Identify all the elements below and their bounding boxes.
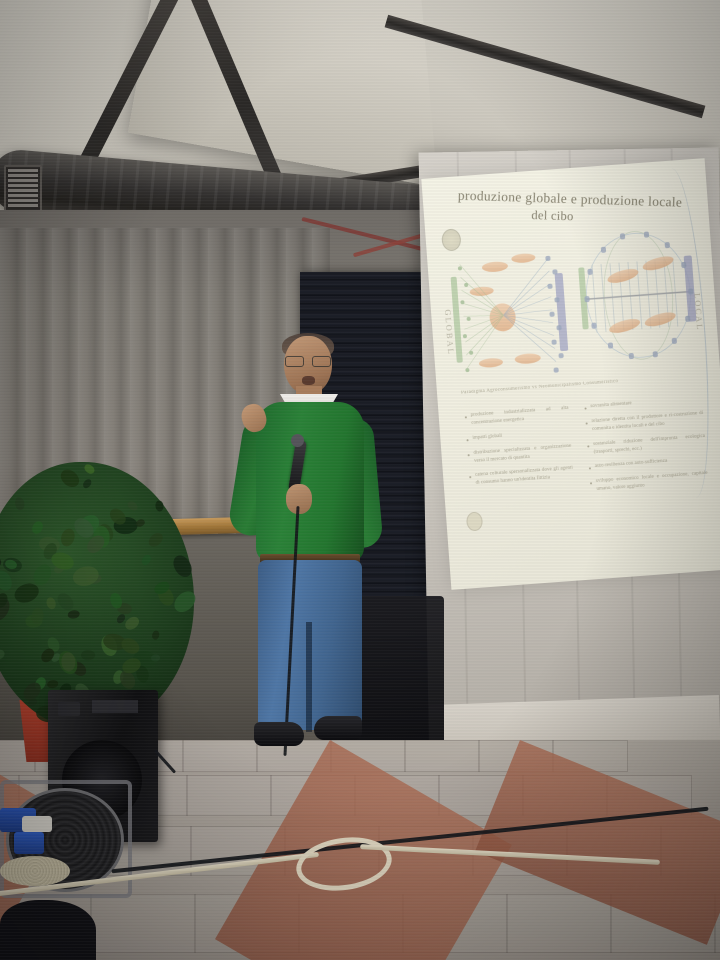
slide-bullet-text: distribuzione specializzata e organizzaz… <box>473 442 572 465</box>
slide-bullet-text: relazione diretta con il produttore e ri… <box>591 410 704 434</box>
slide-bullet: produzione industrializzata ad alta conc… <box>465 405 570 428</box>
bullet-dot-icon <box>589 468 591 470</box>
coiled-beige-cable <box>0 856 70 886</box>
bullet-dot-icon <box>466 439 468 441</box>
shrub-leaf <box>45 596 57 611</box>
shrub-leaf <box>155 500 164 512</box>
duct-rib <box>84 156 92 218</box>
slide-bullet: sviluppo economico locale e occupazione,… <box>590 470 709 494</box>
diagram-circle-lines <box>573 221 703 369</box>
slide-bullet: sostanziale riduzione dell'impronta ecol… <box>587 433 706 457</box>
shrub-leaf <box>126 500 140 513</box>
diagram-node <box>600 246 605 252</box>
green-sweater-torso <box>256 402 364 562</box>
slide-bullet-text: sviluppo economico locale e occupazione,… <box>596 470 709 494</box>
slide-bullet-text: produzione industrializzata ad alta conc… <box>470 405 569 428</box>
shrub-leaf <box>81 650 95 660</box>
shrub-leaf <box>61 651 76 671</box>
duct-rib <box>68 155 76 217</box>
bullet-dot-icon <box>587 445 589 447</box>
slide-bullet: catena colturale spersonalizzata dove gl… <box>469 465 574 488</box>
slide-bullet: distribuzione specializzata e organizzaz… <box>467 442 572 465</box>
shrub-leaf <box>59 527 77 548</box>
slide-bullet: relazione diretta con il produttore e ri… <box>585 410 704 434</box>
diagram-node <box>587 269 592 275</box>
bullet-dot-icon <box>590 483 592 485</box>
shrub-leaf <box>146 530 165 549</box>
bullet-dot-icon <box>586 422 588 424</box>
slide-bullets: produzione industrializzata ad alta conc… <box>439 394 720 574</box>
diagram-node <box>685 316 690 322</box>
foreground-dark-object <box>0 900 96 960</box>
diagram-node <box>584 296 589 302</box>
local-network-diagram <box>573 221 703 369</box>
duct-rib <box>52 153 60 215</box>
blue-industrial-plug <box>14 832 44 854</box>
shrub-leaf <box>46 679 58 689</box>
bullet-dot-icon <box>465 416 467 418</box>
slide-bullet-text: impatti globali <box>472 433 502 443</box>
shrub-leaf <box>0 648 6 662</box>
presenter <box>222 336 392 796</box>
diagram-node <box>607 343 612 349</box>
shrub-leaf <box>58 466 83 490</box>
slide-bullet-text: sovranita alimentare <box>590 400 632 411</box>
white-plug-adapter <box>22 816 52 832</box>
shrub-leaf <box>31 519 46 535</box>
global-network-diagram <box>449 247 574 385</box>
right-shoe <box>314 716 362 740</box>
diagram-node <box>643 231 648 237</box>
shrub-leaf <box>140 553 152 566</box>
shrub-leaf <box>14 496 26 511</box>
slide-bullet-text: auto-resilienza con auto-sufficienza <box>595 458 668 471</box>
shrub-leaf <box>81 477 93 489</box>
diagram-link-lines <box>449 247 574 385</box>
speaker-brand-badge <box>92 700 138 713</box>
floor-tile <box>90 894 196 953</box>
slide-bullet-text: catena colturale spersonalizzata dove gl… <box>475 465 574 488</box>
shrub-leaf <box>68 609 81 619</box>
slide-bullet: impatti globali <box>466 428 570 443</box>
diagram-node <box>620 233 625 239</box>
presentation-photo-scene: produzione globale e produzione locale d… <box>0 0 720 960</box>
diagram-node <box>688 288 693 294</box>
eyeglasses-icon <box>285 356 331 365</box>
bullet-column-local: sovranita alimentarerelazione diretta co… <box>584 395 709 502</box>
diagram-node <box>652 352 657 358</box>
shrub-leaf <box>83 463 96 476</box>
diagram-node <box>665 241 670 247</box>
bullet-dot-icon <box>469 477 471 479</box>
shrub-leaf <box>135 518 146 528</box>
bullet-dot-icon <box>468 454 470 456</box>
slide-bullet-text: sostanziale riduzione dell'impronta ecol… <box>593 433 706 457</box>
mouth <box>302 376 315 385</box>
bullet-column-global: produzione industrializzata ad alta conc… <box>465 405 575 496</box>
bullet-dot-icon <box>584 407 586 409</box>
jeans-seam <box>306 622 312 732</box>
shrub-leaf <box>123 615 141 632</box>
left-shoe <box>254 722 304 746</box>
shrub-leaf <box>151 630 160 641</box>
diagram-node <box>591 322 596 328</box>
university-crest-emblem <box>441 228 462 251</box>
slide-bullet: sovranita alimentare <box>584 395 702 412</box>
shrub-leaf <box>71 565 101 589</box>
diagram-node <box>681 262 686 268</box>
projected-slide: produzione globale e produzione locale d… <box>421 158 720 590</box>
slide-bullet: auto-resilienza con auto-sufficienza <box>589 455 707 472</box>
shrub-leaf <box>150 654 160 661</box>
speaker-tweeter-icon <box>58 702 80 716</box>
floor-tile <box>404 740 480 772</box>
floor-tile <box>506 894 612 953</box>
